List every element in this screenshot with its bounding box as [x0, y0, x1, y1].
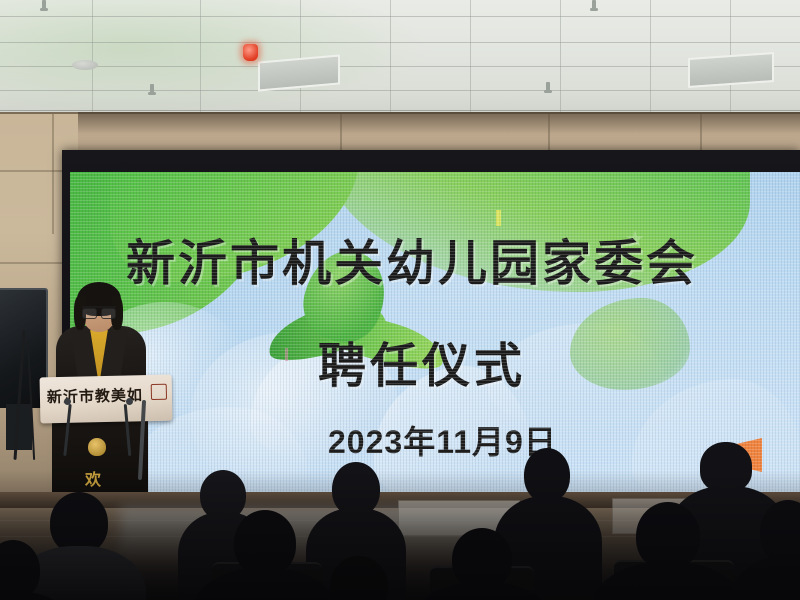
foreground-vignette: [0, 470, 800, 600]
ceiling-green-tint: [0, 0, 430, 118]
speaker-glasses: [82, 306, 116, 317]
fire-alarm-light: [243, 44, 258, 61]
led-screen: 新沂市机关幼儿园家委会 聘任仪式 2023年11月9日: [70, 172, 800, 492]
ceiling-dome-light: [72, 60, 98, 70]
sprinkler-head: [42, 0, 46, 10]
ceiling: [0, 0, 800, 118]
sprinkler-head: [150, 84, 154, 94]
microphone-head: [126, 398, 133, 405]
photo-scene: 新沂市机关幼儿园家委会 聘任仪式 2023年11月9日 欢 新沂市教美如: [0, 0, 800, 600]
sprinkler-head: [546, 82, 550, 92]
pink-accent-mark: [285, 348, 288, 361]
screen-title-sub: 聘任仪式: [318, 326, 526, 396]
microphone-head: [64, 398, 71, 405]
podium-top-panel: 新沂市教美如: [40, 375, 173, 424]
wall-shadow-band: [0, 112, 800, 134]
ceiling-vent: [688, 52, 774, 88]
screen-title-main: 新沂市机关幼儿园家委会: [126, 224, 800, 295]
podium-emblem: [88, 438, 106, 456]
podium-seal-icon: [151, 384, 167, 400]
screen-date: 2023年11月9日: [328, 417, 557, 463]
sprinkler-head: [592, 0, 596, 10]
